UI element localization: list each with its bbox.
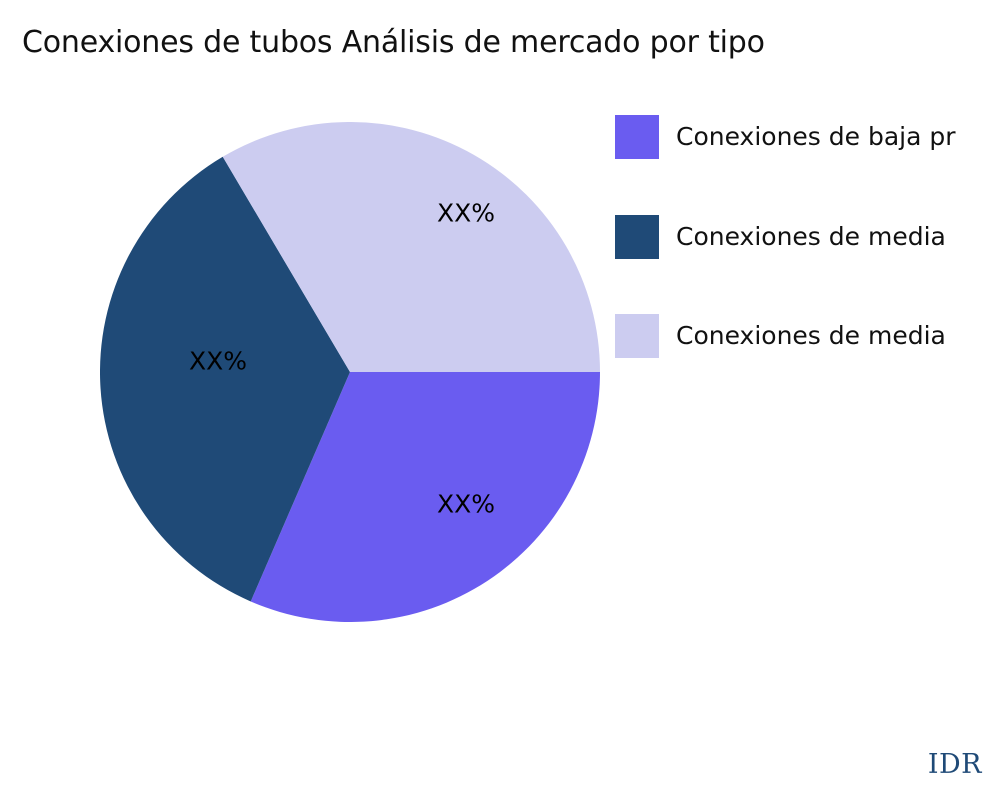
watermark-label: IDR	[928, 750, 982, 780]
pie-chart-figure: Conexiones de tubos Análisis de mercado …	[0, 0, 1000, 800]
pie-data-label: XX%	[437, 492, 495, 517]
pie-data-label: XX%	[437, 201, 495, 226]
page-title: Conexiones de tubos Análisis de mercado …	[22, 24, 765, 62]
pie-data-label: XX%	[189, 349, 247, 374]
legend-label-2: Conexiones de media	[676, 321, 946, 351]
legend-swatch-icon-0	[615, 115, 659, 159]
legend-item-1[interactable]: Conexiones de media	[615, 214, 946, 260]
legend-label-0: Conexiones de baja pr	[676, 122, 956, 152]
pie-plot-area	[100, 122, 600, 622]
pie-slice-group	[100, 122, 600, 622]
chart-legend: Conexiones de baja pr Conexiones de medi…	[615, 114, 1000, 374]
legend-swatch-icon-1	[615, 215, 659, 259]
legend-swatch-icon-2	[615, 314, 659, 358]
legend-item-0[interactable]: Conexiones de baja pr	[615, 114, 956, 160]
legend-label-1: Conexiones de media	[676, 222, 946, 252]
pie-svg	[100, 122, 600, 622]
legend-item-2[interactable]: Conexiones de media	[615, 313, 946, 359]
